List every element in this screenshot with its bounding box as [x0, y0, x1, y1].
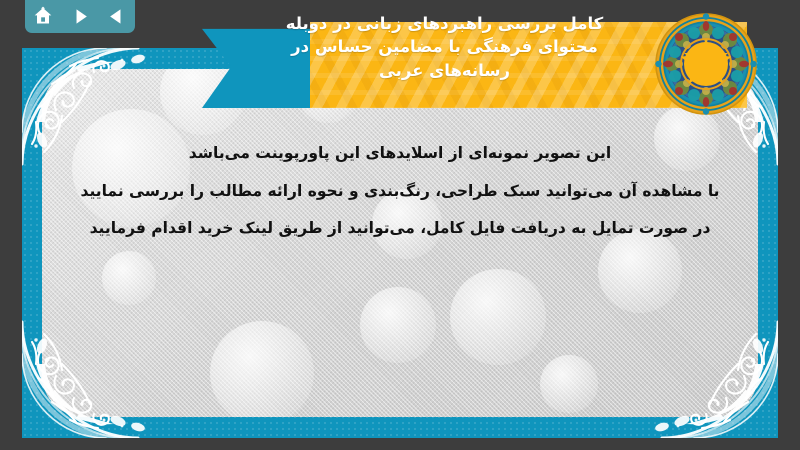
triangle-right-icon: [71, 7, 90, 26]
home-button[interactable]: [30, 4, 56, 28]
persian-medallion-icon: [655, 13, 757, 115]
previous-slide-button[interactable]: [104, 4, 130, 28]
body-line: این تصویر نمونه‌ای از اسلایدهای این پاور…: [55, 135, 745, 173]
slide-body-text: این تصویر نمونه‌ای از اسلایدهای این پاور…: [55, 135, 745, 248]
bokeh-circle: [360, 287, 436, 363]
body-line: در صورت تمایل به دریافت فایل کامل، می‌تو…: [55, 210, 745, 248]
slide-canvas: کامل بررسی راهبردهای زبانی در دوبله محتو…: [0, 0, 800, 450]
home-icon: [33, 6, 53, 26]
triangle-left-icon: [107, 7, 126, 26]
ribbon-tail: [202, 22, 314, 108]
slide-navigation-panel: [25, 0, 135, 33]
bokeh-circle: [450, 269, 546, 365]
bokeh-circle: [210, 321, 314, 417]
body-line: با مشاهده آن می‌توانید سبک طراحی، رنگ‌بن…: [55, 173, 745, 211]
next-slide-button[interactable]: [67, 4, 93, 28]
bokeh-circle: [540, 355, 598, 413]
bokeh-circle: [102, 251, 156, 305]
